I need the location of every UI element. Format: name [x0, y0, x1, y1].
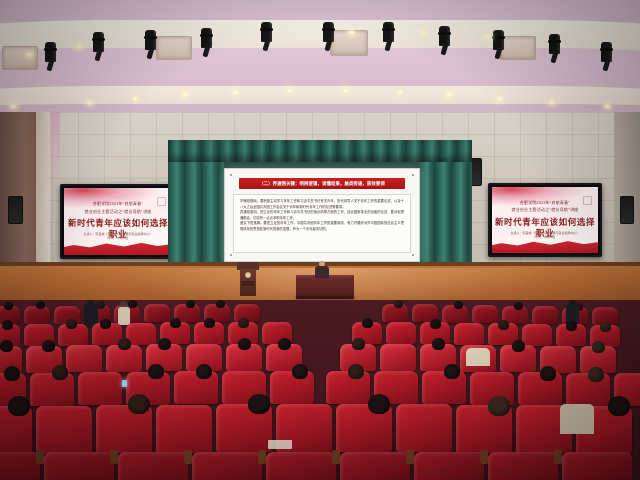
audience-head [66, 319, 77, 329]
seat [266, 452, 336, 480]
seat [326, 371, 370, 404]
stage-spotlight [438, 26, 451, 60]
seat [380, 344, 416, 371]
seat [66, 345, 102, 372]
seat-armrest [406, 450, 414, 464]
audience-head [430, 319, 441, 329]
stage-spotlight [44, 42, 57, 76]
audience-head [128, 394, 150, 414]
seat [78, 372, 122, 405]
seat-armrest [110, 450, 118, 464]
ceiling-downlight [86, 100, 93, 105]
seat [24, 306, 50, 324]
seat [532, 306, 558, 324]
led-right-subtitle-2: 时间：11月26日 [492, 235, 598, 240]
slide-paragraph: 学懂是基础。要积极主动学习青年工作和习近平总书记有关青年、历代领导人关于青年工作… [240, 199, 404, 210]
slide-paragraph: 做实下是落脚。要把立足的青年工作、中国共青团青年工作的重要原则、有力开展好对外中… [240, 221, 404, 232]
ceiling-ac-vent [2, 46, 38, 70]
audience-head [588, 367, 604, 382]
audience-head [600, 322, 611, 332]
audience-head [36, 301, 45, 309]
seat [562, 452, 632, 480]
audience-head [566, 321, 577, 331]
ceiling-downlight [26, 52, 33, 57]
seat-armrest [184, 450, 192, 464]
audience-head [278, 338, 291, 350]
stage-spotlight [322, 22, 335, 56]
audience-head [2, 320, 13, 330]
seat-armrest [554, 450, 562, 464]
audience-head [0, 340, 13, 352]
ceiling-downlight [348, 30, 355, 35]
lectern-nameplate [242, 281, 254, 286]
lectern [237, 262, 259, 296]
ceiling-downlight [182, 92, 189, 97]
audience-head [444, 364, 460, 379]
audience-head [204, 318, 215, 328]
audience-head [540, 366, 556, 381]
audience-head [170, 318, 181, 328]
smartphone-screen [122, 380, 127, 387]
ceiling-downlight [132, 96, 139, 101]
audience-head [292, 364, 308, 379]
led-right-header-line2: 就业创业主题活动之“就业导航”讲座 [492, 207, 598, 213]
ceiling-downlight [446, 92, 453, 97]
seat [174, 371, 218, 404]
presenter-body [315, 266, 329, 278]
ceiling-ac-vent [156, 36, 192, 60]
audience-head [488, 396, 510, 416]
seat [144, 304, 170, 322]
ceiling-downlight [10, 104, 17, 109]
audience-head [348, 364, 364, 379]
audience-head [352, 338, 365, 350]
institution-emblem-icon [245, 272, 251, 278]
audience-head [186, 300, 195, 308]
seat [522, 324, 552, 346]
stage-spotlight [492, 30, 505, 64]
ceiling-downlight [484, 34, 491, 39]
audience-area [0, 300, 640, 480]
audience-head [238, 318, 249, 328]
stage-spotlight [144, 30, 157, 64]
wall-loudspeaker [620, 196, 634, 224]
audience-head [8, 396, 30, 416]
seat [396, 404, 452, 452]
led-left-subtitle-2: 时间：11月26日 [64, 236, 172, 241]
seat [44, 452, 114, 480]
audience-head [592, 341, 605, 353]
audience-coat [560, 404, 594, 434]
led-display-right[interactable]: 合肥学院2023年“启航青春” 就业创业主题活动之“就业导航”讲座 新时代青年应… [488, 183, 602, 257]
handout-paper [268, 440, 292, 449]
led-right-surface: 合肥学院2023年“启航青春” 就业创业主题活动之“就业导航”讲座 新时代青年应… [492, 187, 598, 253]
slide-paragraph: 弄通是原则。把立足的青年工作和习近平总书记的指示精神方面的工作，结合国家事业的全… [240, 210, 404, 221]
screen-corner-marker [412, 254, 414, 256]
seat [422, 371, 466, 404]
stage-spotlight [92, 32, 105, 66]
seat-armrest [36, 450, 44, 464]
ceiling-downlight [496, 96, 503, 101]
audience-head [608, 396, 630, 416]
standing-attendee [118, 301, 130, 323]
seat [30, 373, 74, 406]
ceiling-downlight [548, 100, 555, 105]
wall-loudspeaker [8, 196, 23, 224]
audience-head [248, 394, 270, 414]
seat [0, 452, 40, 480]
ceiling-downlight [76, 44, 83, 49]
audience-head [514, 302, 523, 310]
seat [192, 452, 262, 480]
audience-head [368, 394, 390, 414]
led-display-left[interactable]: 合肥学院2023年“启航青春” 就业创业主题活动之“就业导航”讲座 新时代青年应… [60, 184, 176, 259]
ceiling-downlight [604, 104, 611, 109]
audience-head [148, 364, 164, 379]
audience-head [512, 340, 525, 352]
seat [414, 452, 484, 480]
stage-spotlight [382, 22, 395, 56]
audience-head [118, 338, 131, 350]
auditorium-photo: 合肥学院2023年“启航青春” 就业创业主题活动之“就业导航”讲座 新时代青年应… [0, 0, 640, 480]
audience-head [42, 340, 55, 352]
seat-armrest [332, 450, 340, 464]
audience-coat [466, 348, 490, 366]
ceiling-downlight [286, 88, 293, 93]
audience-head [498, 320, 509, 330]
seat [472, 305, 498, 323]
stage-spotlight [260, 22, 273, 56]
seat [340, 452, 410, 480]
seat-armrest [480, 450, 488, 464]
slide-header-text: （二）弄通悟关键：明辨逻辑，读懂结果，触类旁通，质效要领 [259, 181, 385, 187]
audience-head [52, 365, 68, 380]
audience-head [100, 319, 111, 329]
seat [488, 452, 558, 480]
screen-corner-marker [230, 174, 232, 176]
led-right-header-line1: 合肥学院2023年“启航青春” [492, 200, 598, 206]
seat [454, 323, 484, 345]
ceiling-downlight [342, 88, 349, 93]
seat [156, 405, 212, 453]
led-left-header-line1: 合肥学院2023年“启航青春” [64, 201, 172, 207]
ceiling-downlight [420, 30, 427, 35]
slide-body: 学懂是基础。要积极主动学习青年工作和习近平总书记有关青年、历代领导人关于青年工作… [233, 194, 411, 253]
ceiling-downlight [396, 90, 403, 95]
standing-attendee-body [118, 307, 130, 325]
seated-presenter [315, 261, 329, 277]
led-left-surface: 合肥学院2023年“启航青春” 就业创业主题活动之“就业导航”讲座 新时代青年应… [64, 188, 172, 255]
audience-head [196, 364, 212, 379]
seat-armrest [258, 450, 266, 464]
screen-corner-marker [230, 254, 232, 256]
seat [386, 322, 416, 344]
led-left-header-line2: 就业创业主题活动之“就业导航”讲座 [64, 209, 172, 215]
seat [36, 406, 92, 454]
audience-head [4, 302, 13, 310]
stage-spotlight [200, 28, 213, 62]
audience-head [394, 300, 403, 308]
stage-spotlight [600, 42, 613, 76]
audience-head [362, 318, 373, 328]
projection-screen[interactable]: （二）弄通悟关键：明辨逻辑，读懂结果，触类旁通，质效要领 学懂是基础。要积极主动… [224, 168, 420, 262]
screen-corner-marker [412, 174, 414, 176]
ceiling-ac-vent [500, 36, 536, 60]
ceiling-downlight [232, 90, 239, 95]
audience-head [158, 338, 171, 350]
stage-spotlight [548, 34, 561, 68]
ceiling [0, 0, 640, 118]
seat [270, 371, 314, 404]
slide-header-banner: （二）弄通悟关键：明辨逻辑，读懂结果，触类旁通，质效要领 [239, 178, 405, 189]
audience-head [454, 301, 463, 309]
audience-head [4, 366, 20, 381]
audience-head [216, 300, 225, 308]
audience-head [432, 338, 445, 350]
audience-head [238, 338, 251, 350]
seat [118, 452, 188, 480]
stage-curtain-valance [168, 140, 472, 162]
